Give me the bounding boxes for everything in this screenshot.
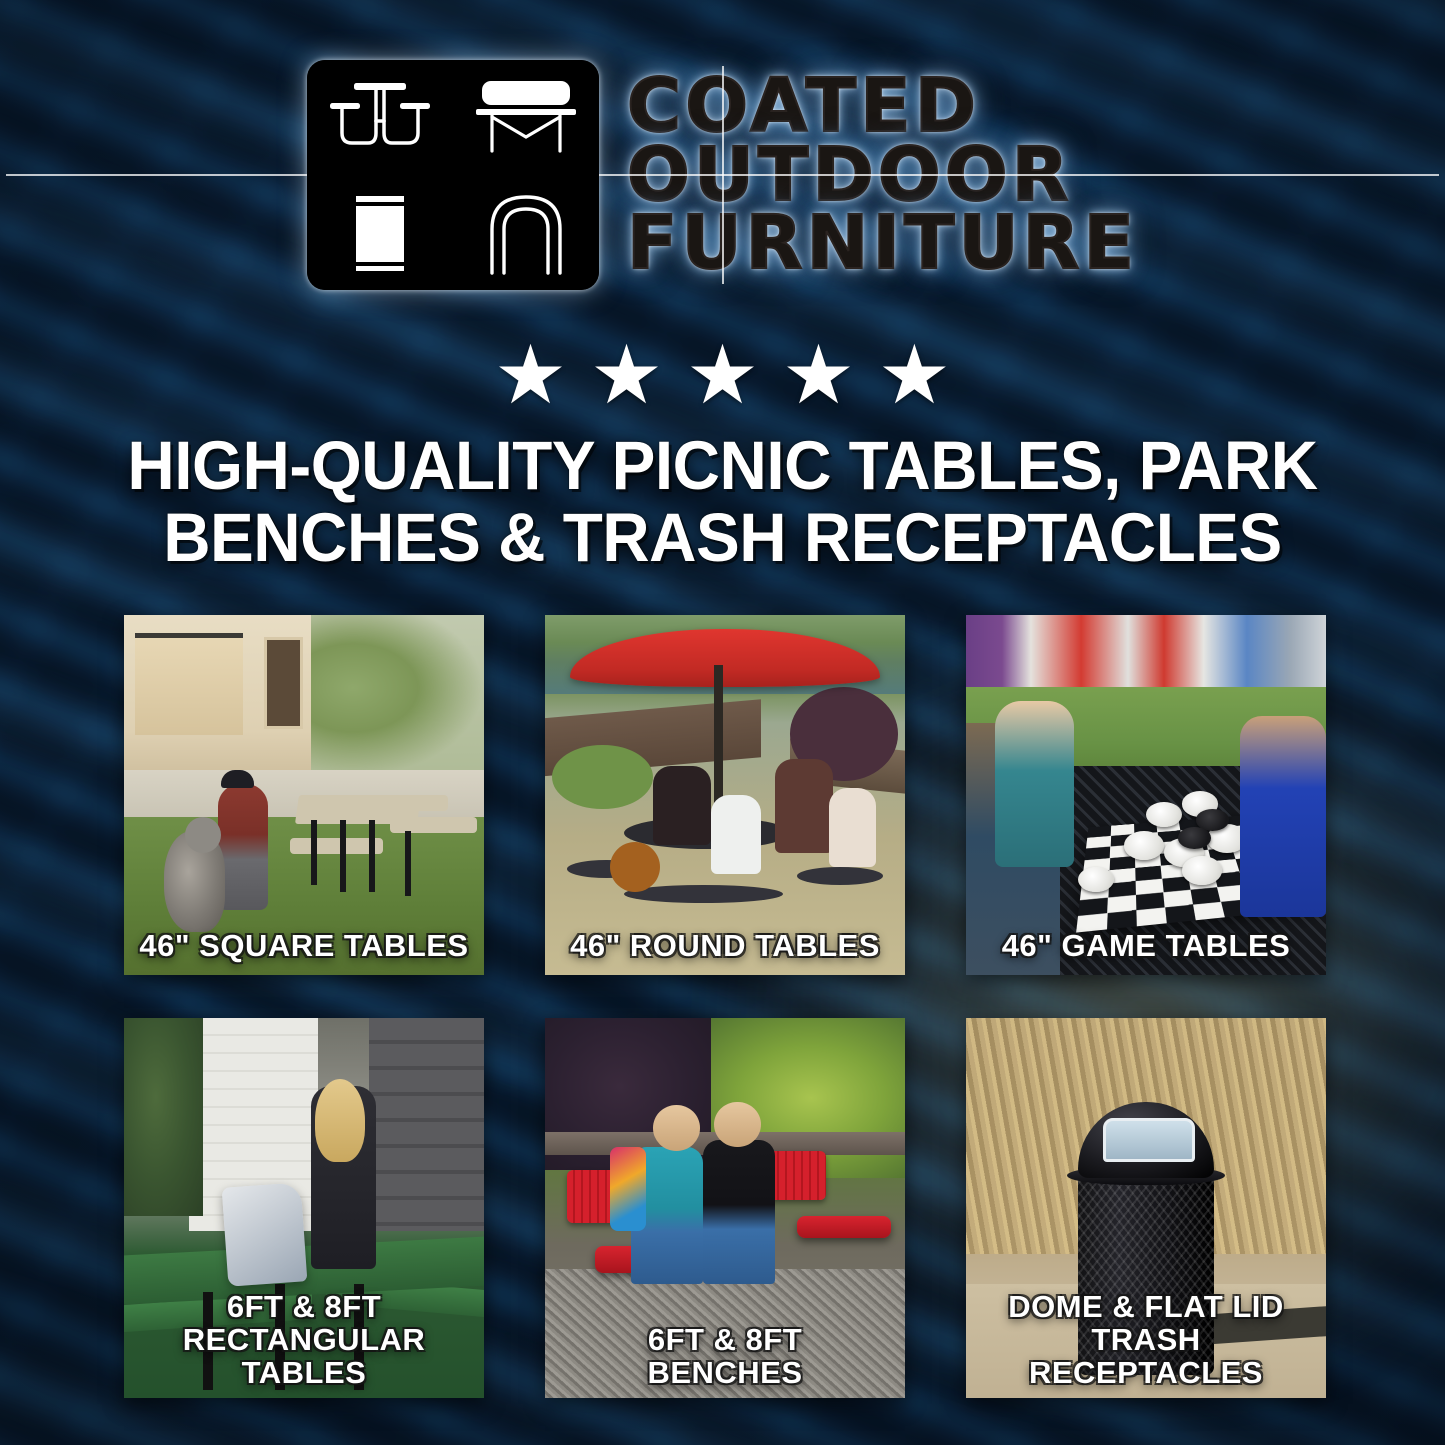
trash-receptacle-icon — [307, 175, 453, 290]
caption-line-2: RECTANGULAR TABLES — [130, 1324, 478, 1390]
product-tile-square-tables[interactable]: 46" SQUARE TABLES — [124, 615, 484, 975]
product-tile-benches[interactable]: 6FT & 8FT BENCHES — [545, 1018, 905, 1398]
star-icon: ★ — [878, 335, 952, 417]
product-grid: 46" SQUARE TABLES — [124, 615, 1324, 1398]
product-photo-round-tables — [545, 615, 905, 975]
product-photo-square-tables — [124, 615, 484, 975]
product-caption: 46" GAME TABLES — [972, 930, 1320, 963]
product-caption: DOME & FLAT LID TRASH RECEPTACLES — [972, 1291, 1320, 1390]
promo-banner: COATED OUTDOOR FURNITURE ★ ★ ★ ★ ★ HIGH-… — [0, 0, 1445, 1445]
star-icon: ★ — [686, 335, 760, 417]
star-rating: ★ ★ ★ ★ ★ — [0, 335, 1445, 417]
product-tile-trash-receptacles[interactable]: DOME & FLAT LID TRASH RECEPTACLES — [966, 1018, 1326, 1398]
caption-line-1: 6FT & 8FT — [130, 1291, 478, 1324]
brand-line-1: COATED — [627, 72, 980, 141]
caption-line-1: 46" ROUND TABLES — [551, 930, 899, 963]
brand-logo: COATED OUTDOOR FURNITURE — [0, 60, 1445, 290]
product-tile-rectangular-tables[interactable]: 6FT & 8FT RECTANGULAR TABLES — [124, 1018, 484, 1398]
headline-line-2: BENCHES & TRASH RECEPTACLES — [84, 502, 1362, 574]
bike-rack-arch-icon — [453, 175, 599, 290]
caption-line-1: 46" SQUARE TABLES — [130, 930, 478, 963]
product-photo-game-tables — [966, 615, 1326, 975]
product-caption: 6FT & 8FT BENCHES — [551, 1324, 899, 1390]
product-tile-round-tables[interactable]: 46" ROUND TABLES — [545, 615, 905, 975]
caption-line-2: BENCHES — [551, 1357, 899, 1390]
logo-icon-grid — [307, 60, 599, 290]
product-tile-game-tables[interactable]: 46" GAME TABLES — [966, 615, 1326, 975]
brand-line-3: FURNITURE — [627, 209, 1138, 278]
product-caption: 46" SQUARE TABLES — [130, 930, 478, 963]
caption-line-1: 6FT & 8FT — [551, 1324, 899, 1357]
caption-line-2: TRASH RECEPTACLES — [972, 1324, 1320, 1390]
caption-line-1: 46" GAME TABLES — [972, 930, 1320, 963]
star-icon: ★ — [590, 335, 664, 417]
caption-line-1: DOME & FLAT LID — [972, 1291, 1320, 1324]
bench-side-icon — [453, 60, 599, 175]
product-caption: 6FT & 8FT RECTANGULAR TABLES — [130, 1291, 478, 1390]
star-icon: ★ — [782, 335, 856, 417]
page-title: HIGH-QUALITY PICNIC TABLES, PARK BENCHES… — [84, 430, 1362, 574]
star-icon: ★ — [494, 335, 568, 417]
product-caption: 46" ROUND TABLES — [551, 930, 899, 963]
picnic-table-icon — [307, 60, 453, 175]
headline-line-1: HIGH-QUALITY PICNIC TABLES, PARK — [84, 430, 1362, 502]
